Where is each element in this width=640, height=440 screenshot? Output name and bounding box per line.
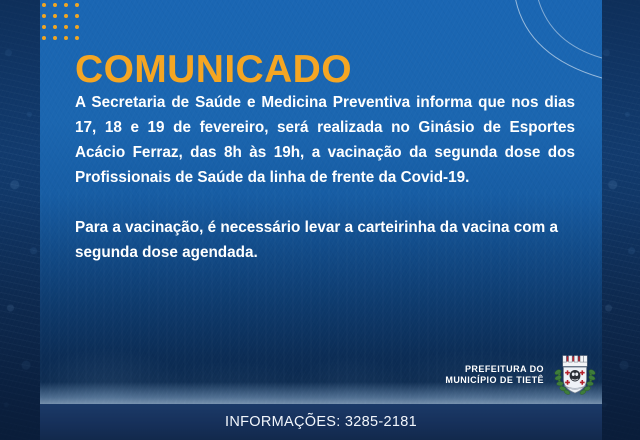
paragraph-secondary: Para a vacinação, é necessário levar a c… <box>75 215 575 265</box>
decorative-dot-grid-icon <box>42 3 86 47</box>
prefecture-logo-text: PREFEITURA DO MUNICÍPIO DE TIETÊ <box>445 364 544 386</box>
prefecture-logo: PREFEITURA DO MUNICÍPIO DE TIETÊ <box>445 352 598 398</box>
announcement-poster: COMUNICADO A Secretaria de Saúde e Medic… <box>0 0 640 440</box>
paragraph-primary-emphasis: Profissionais de Saúde da linha de frent… <box>75 169 469 186</box>
page-title: COMUNICADO <box>75 50 352 89</box>
paragraph-primary: A Secretaria de Saúde e Medicina Prevent… <box>75 90 575 190</box>
footer-bar: INFORMAÇÕES: 3285-2181 <box>40 404 602 440</box>
paragraph-primary-text: A Secretaria de Saúde e Medicina Prevent… <box>75 94 575 161</box>
left-edge-shading <box>0 0 42 440</box>
right-edge-shading <box>598 0 640 440</box>
prefecture-logo-line-2: MUNICÍPIO DE TIETÊ <box>445 375 544 386</box>
announcement-body: A Secretaria de Saúde e Medicina Prevent… <box>75 90 575 265</box>
coat-of-arms-icon <box>552 352 598 398</box>
footer-contact-text: INFORMAÇÕES: 3285-2181 <box>225 414 417 430</box>
prefecture-logo-line-1: PREFEITURA DO <box>445 364 544 375</box>
